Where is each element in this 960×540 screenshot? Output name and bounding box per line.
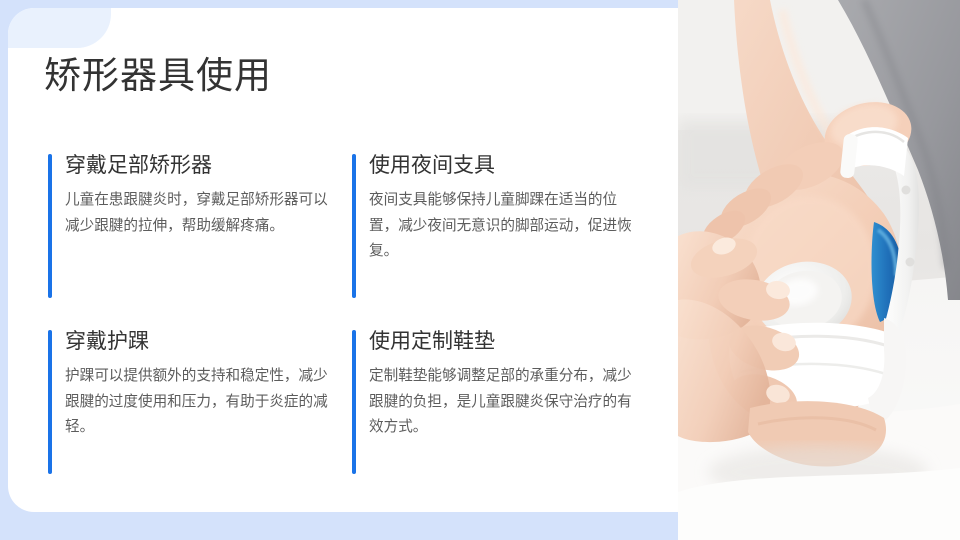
page-title: 矫形器具使用 [44, 52, 272, 100]
accent-bar-icon [48, 330, 52, 474]
tip-heading-2: 使用夜间支具 [369, 151, 638, 181]
tip-heading-4: 使用定制鞋垫 [369, 327, 638, 357]
tip-body-3: 护踝可以提供额外的支持和稳定性，减少跟腱的过度使用和压力，有助于炎症的减轻。 [65, 364, 334, 441]
tip-item-3[interactable]: 穿戴护踝 护踝可以提供额外的支持和稳定性，减少跟腱的过度使用和压力，有助于炎症的… [48, 322, 352, 498]
decorative-blob [8, 8, 111, 48]
accent-bar-icon [352, 330, 356, 474]
orthosis-photo [678, 0, 960, 540]
orthosis-photo-image [678, 0, 960, 540]
slide-root: 矫形器具使用 穿戴足部矫形器 儿童在患跟腱炎时，穿戴足部矫形器可以减少跟腱的拉伸… [0, 0, 960, 540]
accent-bar-icon [352, 154, 356, 298]
tips-grid: 穿戴足部矫形器 儿童在患跟腱炎时，穿戴足部矫形器可以减少跟腱的拉伸，帮助缓解疼痛… [48, 146, 656, 498]
accent-bar-icon [48, 154, 52, 298]
tip-item-2[interactable]: 使用夜间支具 夜间支具能够保持儿童脚踝在适当的位置，减少夜间无意识的脚部运动，促… [352, 146, 656, 322]
tip-body-2: 夜间支具能够保持儿童脚踝在适当的位置，减少夜间无意识的脚部运动，促进恢复。 [369, 188, 638, 265]
tip-body-1: 儿童在患跟腱炎时，穿戴足部矫形器可以减少跟腱的拉伸，帮助缓解疼痛。 [65, 188, 334, 239]
tip-heading-1: 穿戴足部矫形器 [65, 151, 334, 181]
tip-heading-3: 穿戴护踝 [65, 327, 334, 357]
tip-body-4: 定制鞋垫能够调整足部的承重分布，减少跟腱的负担，是儿童跟腱炎保守治疗的有效方式。 [369, 364, 638, 441]
tip-item-1[interactable]: 穿戴足部矫形器 儿童在患跟腱炎时，穿戴足部矫形器可以减少跟腱的拉伸，帮助缓解疼痛… [48, 146, 352, 322]
tip-item-4[interactable]: 使用定制鞋垫 定制鞋垫能够调整足部的承重分布，减少跟腱的负担，是儿童跟腱炎保守治… [352, 322, 656, 498]
content-card: 矫形器具使用 穿戴足部矫形器 儿童在患跟腱炎时，穿戴足部矫形器可以减少跟腱的拉伸… [8, 8, 678, 512]
